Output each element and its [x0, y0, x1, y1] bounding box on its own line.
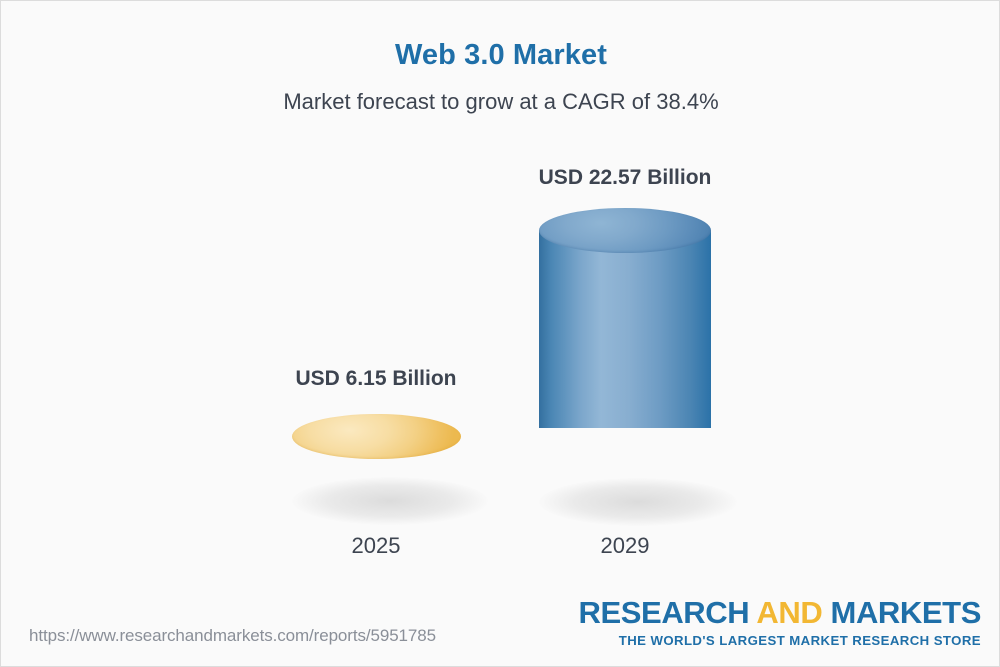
- cylinder-top-2029: [539, 208, 711, 253]
- plot-area: USD 6.15 Billion 2025 USD 22.57 Billion: [1, 1, 1000, 601]
- cylinder-segment-2029-growth: [539, 230, 711, 428]
- logo-word-research: RESEARCH: [579, 595, 757, 630]
- logo-word-and: AND: [756, 595, 822, 630]
- logo-wordmark: RESEARCH AND MARKETS: [579, 597, 982, 628]
- category-label-2029: 2029: [535, 533, 715, 559]
- logo-tagline: THE WORLD'S LARGEST MARKET RESEARCH STOR…: [579, 633, 982, 648]
- cylinder-segment-2029-base: [539, 428, 711, 512]
- chart-canvas: Web 3.0 Market Market forecast to grow a…: [0, 0, 1000, 667]
- cylinder-body-2029: [539, 230, 711, 512]
- source-url[interactable]: https://www.researchandmarkets.com/repor…: [29, 626, 436, 646]
- bar-group-2029: USD 22.57 Billion 2029: [1, 1, 1000, 601]
- research-and-markets-logo[interactable]: RESEARCH AND MARKETS THE WORLD'S LARGEST…: [579, 597, 982, 648]
- logo-word-markets: MARKETS: [822, 595, 981, 630]
- value-label-2029: USD 22.57 Billion: [505, 166, 745, 190]
